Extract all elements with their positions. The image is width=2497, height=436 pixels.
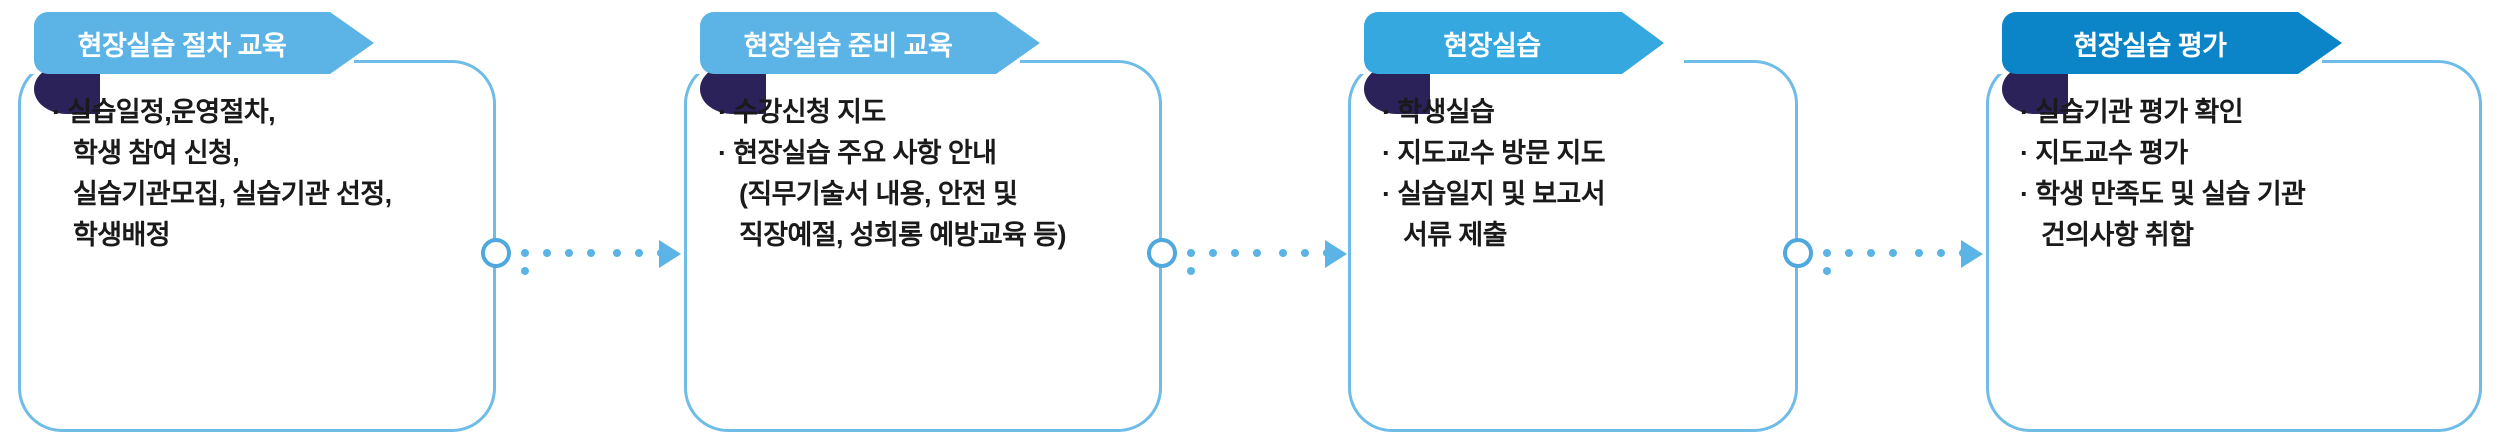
bullet-line: 직장예절, 성희롱 예방교육 등) [718,215,1128,256]
connector-dots-icon [1187,249,1347,257]
process-flow-diagram: 현장실습 절차 교육 · 실습일정,운영절차, 학생 참여 신청, 실습기관모집… [0,0,2497,436]
bullet-line: 학생배정 [52,215,462,256]
bullet-line: · 학생 만족도 및 실습 기관 [2020,174,2448,215]
bullet-line: · 실습일정,운영절차, [52,92,462,133]
card-text-3: · 학생실습 · 지도교수 방문 지도 · 실습일지 및 보고서 서류 제출 [1348,92,1798,256]
connector-arrow-icon [1961,240,1983,268]
connector-2 [1147,238,1347,274]
card-text-1: · 실습일정,운영절차, 학생 참여 신청, 실습기관모집, 실습기관 선정, … [18,92,496,256]
process-step-card-3[interactable]: 현장실습 · 학생실습 · 지도교수 방문 지도 · 실습일지 및 보고서 서류… [1348,0,1798,436]
bullet-line: 건의사항 취합 [2020,215,2448,256]
step-header-label-4: 현장실습 평가 [2002,12,2342,74]
process-step-card-2[interactable]: 현장실습 준비 교육 · 수강신청 지도 · 현장실습 주요 사항 안내 (직무… [684,0,1162,436]
bullet-line: 실습기관모집, 실습기관 선정, [52,174,462,215]
connector-dots-icon [521,249,681,257]
bullet-line: · 실습일지 및 보고서 [1382,174,1764,215]
connector-3 [1783,238,1983,274]
bullet-line: · 현장실습 주요 사항 안내 [718,133,1128,174]
connector-dots-icon [1823,249,1983,257]
bullet-line: · 실습기관 평가 확인 [2020,92,2448,133]
connector-arrow-icon [659,240,681,268]
connector-circle-icon [1147,238,1177,268]
process-step-card-1[interactable]: 현장실습 절차 교육 · 실습일정,운영절차, 학생 참여 신청, 실습기관모집… [18,0,496,436]
bullet-line: · 학생실습 [1382,92,1764,133]
bullet-line: · 수강신청 지도 [718,92,1128,133]
process-step-card-4[interactable]: 현장실습 평가 · 실습기관 평가 확인 · 지도교수 평가 · 학생 만족도 … [1986,0,2482,436]
step-header-2[interactable]: 현장실습 준비 교육 [700,12,1040,74]
card-text-2: · 수강신청 지도 · 현장실습 주요 사항 안내 (직무기술서 내용, 안전 … [684,92,1162,256]
step-header-3[interactable]: 현장실습 [1364,12,1664,74]
connector-circle-icon [481,238,511,268]
bullet-line: 서류 제출 [1382,215,1764,256]
connector-1 [481,238,681,274]
connector-arrow-icon [1325,240,1347,268]
bullet-line: (직무기술서 내용, 안전 및 [718,174,1128,215]
connector-circle-icon [1783,238,1813,268]
step-header-1[interactable]: 현장실습 절차 교육 [34,12,374,74]
bullet-line: 학생 참여 신청, [52,133,462,174]
card-text-4: · 실습기관 평가 확인 · 지도교수 평가 · 학생 만족도 및 실습 기관 … [1986,92,2482,256]
bullet-line: · 지도교수 평가 [2020,133,2448,174]
step-header-label-2: 현장실습 준비 교육 [700,12,1040,74]
step-header-label-3: 현장실습 [1364,12,1664,74]
step-header-4[interactable]: 현장실습 평가 [2002,12,2342,74]
bullet-line: · 지도교수 방문 지도 [1382,133,1764,174]
step-header-label-1: 현장실습 절차 교육 [34,12,374,74]
